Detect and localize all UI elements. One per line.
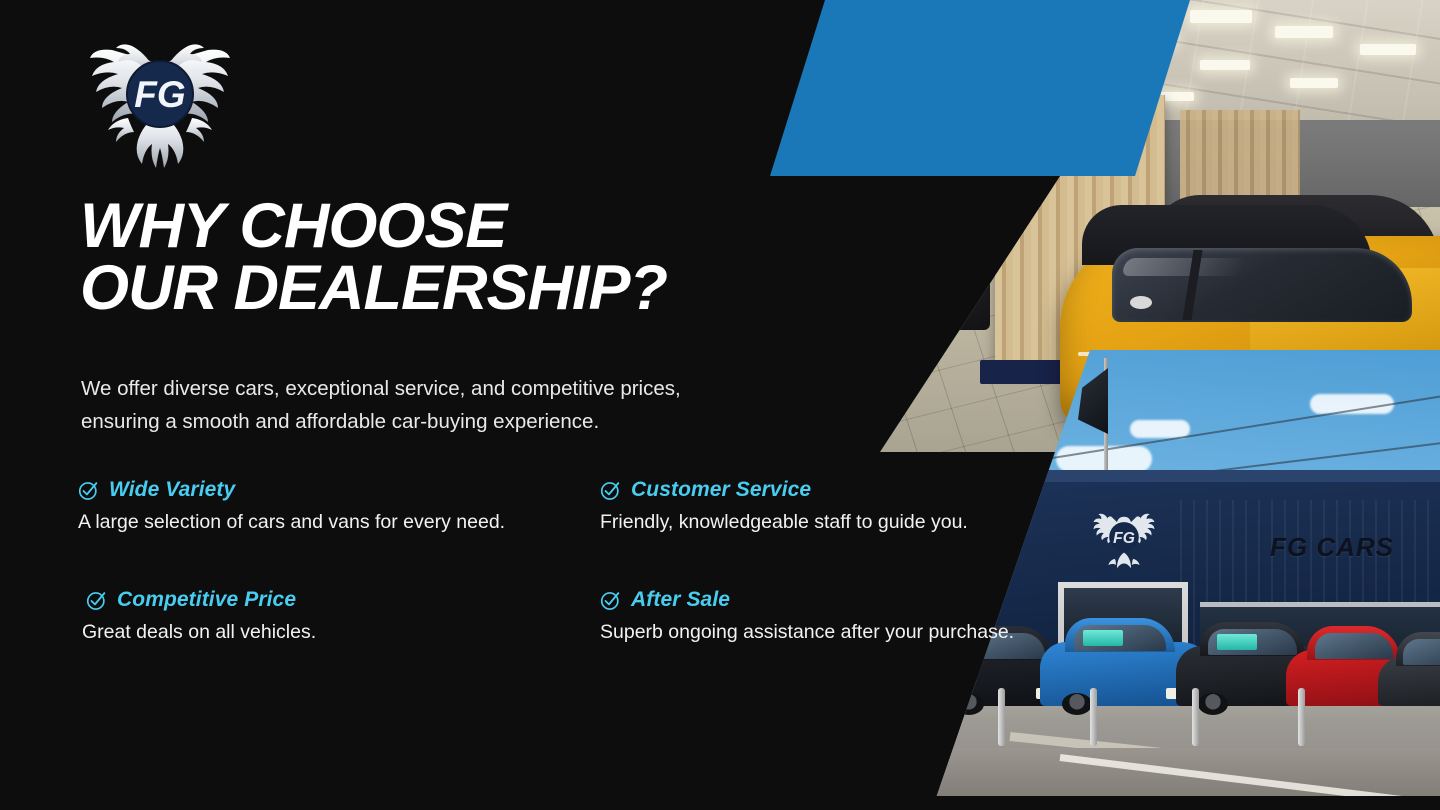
check-circle-icon <box>86 590 107 611</box>
svg-text:FG: FG <box>1113 530 1135 547</box>
check-circle-icon <box>600 480 621 501</box>
feature-title: After Sale <box>631 588 730 612</box>
car-windscreen <box>1403 639 1440 665</box>
subtitle-line-2: ensuring a smooth and affordable car-buy… <box>81 410 599 433</box>
feature-description: Superb ongoing assistance after your pur… <box>600 621 1088 644</box>
blue-parallelogram-accent <box>770 0 1190 176</box>
check-circle-icon <box>78 480 99 501</box>
feature-item-wide-variety: Wide Variety A large selection of cars a… <box>78 478 600 534</box>
feature-header: Wide Variety <box>78 478 600 502</box>
feature-header: Competitive Price <box>78 588 600 612</box>
feature-item-competitive-price: Competitive Price Great deals on all veh… <box>78 588 600 644</box>
fg-eagle-crest-logo: FG <box>82 22 238 170</box>
feature-title: Customer Service <box>631 478 811 502</box>
check-circle-icon <box>600 590 621 611</box>
windscreen-price-tag <box>1083 630 1123 646</box>
feature-description: Great deals on all vehicles. <box>78 621 600 644</box>
yellow-classic-car-windows <box>1112 248 1412 322</box>
subtitle: We offer diverse cars, exceptional servi… <box>81 372 801 438</box>
forecourt-bollard <box>1298 688 1305 746</box>
forecourt-bollard <box>1090 688 1097 746</box>
car-wheel <box>1062 693 1092 715</box>
windscreen-price-tag <box>1217 634 1257 650</box>
cloud <box>1130 420 1190 438</box>
feature-title: Wide Variety <box>109 478 235 502</box>
car-windscreen <box>1315 633 1393 659</box>
building-fg-eagle-logo: FG <box>1085 504 1163 570</box>
ceiling-light <box>1275 26 1333 38</box>
ceiling-light <box>1360 44 1416 55</box>
ceiling-light <box>1200 60 1250 70</box>
forecourt-bollard <box>998 688 1005 746</box>
feature-header: Customer Service <box>600 478 1088 502</box>
page-title: WHY CHOOSE OUR DEALERSHIP? <box>80 196 860 319</box>
logo-monogram: FG <box>134 74 185 115</box>
parked-car <box>1378 656 1440 706</box>
bottom-black-bar <box>0 796 1440 810</box>
ceiling-light <box>1290 78 1338 88</box>
subtitle-line-1: We offer diverse cars, exceptional servi… <box>81 377 681 400</box>
car-wheel <box>954 693 984 715</box>
feature-title: Competitive Price <box>117 588 296 612</box>
ceiling-light <box>1190 10 1252 23</box>
feature-description: A large selection of cars and vans for e… <box>78 511 600 534</box>
feature-item-after-sale: After Sale Superb ongoing assistance aft… <box>600 588 1088 644</box>
car-wheel <box>1198 693 1228 715</box>
feature-header: After Sale <box>600 588 1088 612</box>
car-wing-mirror <box>1130 296 1152 309</box>
feature-description: Friendly, knowledgeable staff to guide y… <box>600 511 1088 534</box>
feature-item-customer-service: Customer Service Friendly, knowledgeable… <box>600 478 1088 534</box>
forecourt-bollard <box>1192 688 1199 746</box>
promo-slide: FG FG CARS <box>0 0 1440 810</box>
building-sign-text: FG CARS <box>1270 532 1394 563</box>
feature-list: Wide Variety A large selection of cars a… <box>78 478 1088 644</box>
headline-line-1: WHY CHOOSE <box>80 191 506 261</box>
headline-line-2: OUR DEALERSHIP? <box>80 258 860 320</box>
